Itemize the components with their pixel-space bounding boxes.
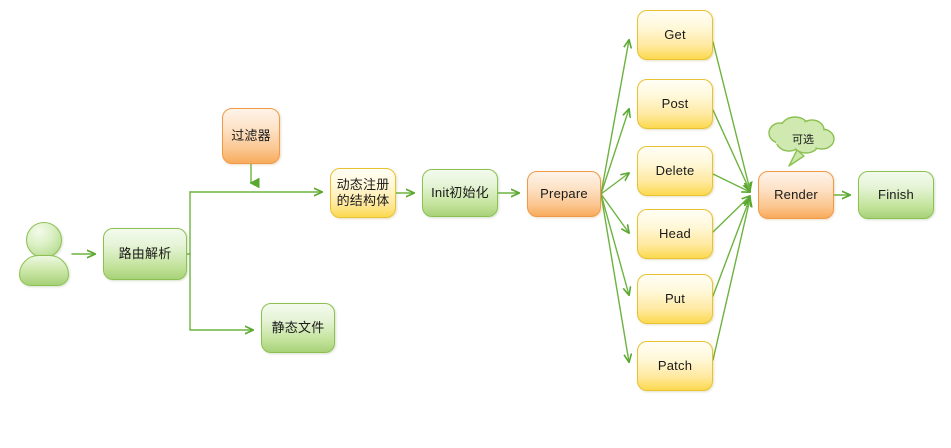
diagram-canvas: 可选 路由解析 过滤器 静态文件 动态注册 的结构体 Init初始化 Prepa… [0,0,951,448]
edge-layer [0,0,951,448]
node-static-file[interactable]: 静态文件 [261,303,335,353]
node-label: Post [658,96,693,112]
node-label: 动态注册 的结构体 [333,177,394,209]
edge-prepare-delete [601,173,629,194]
node-label: Head [655,226,695,242]
node-label: Prepare [536,186,592,202]
optional-callout-label: 可选 [770,119,836,159]
edge-prepare-post [601,109,629,194]
node-prepare[interactable]: Prepare [527,171,601,217]
node-finish[interactable]: Finish [858,171,934,219]
edge-prepare-patch [601,194,629,362]
optional-callout: 可选 [770,119,836,167]
edge-get-render [713,42,750,190]
node-route-parse[interactable]: 路由解析 [103,228,187,280]
node-label: Finish [874,187,918,203]
node-label: 路由解析 [115,246,176,262]
edge-post-render [713,110,750,191]
node-label: 过滤器 [227,128,275,144]
node-label: 静态文件 [268,320,329,336]
edge-patch-render [713,199,750,360]
node-label: Get [660,27,690,43]
edge-prepare-get [601,40,629,194]
node-dynamic-struct[interactable]: 动态注册 的结构体 [330,168,396,218]
node-label: Delete [652,163,699,179]
edge-prepare-put [601,194,629,295]
edge-prepare-head [601,194,629,233]
node-label: Init初始化 [427,185,493,201]
node-patch[interactable]: Patch [637,341,713,391]
node-put[interactable]: Put [637,274,713,324]
node-label: Patch [654,358,696,374]
edge-head-render [713,196,750,232]
node-init[interactable]: Init初始化 [422,169,498,217]
node-filter[interactable]: 过滤器 [222,108,280,164]
node-post[interactable]: Post [637,79,713,129]
node-get[interactable]: Get [637,10,713,60]
user-actor [14,222,72,284]
edge-delete-render [713,174,750,192]
node-render[interactable]: Render [758,171,834,219]
actor-body-icon [19,255,69,286]
node-head[interactable]: Head [637,209,713,259]
edge-put-render [713,198,750,296]
actor-head-icon [26,222,62,258]
node-label: Render [770,187,822,203]
node-delete[interactable]: Delete [637,146,713,196]
node-label: Put [661,291,689,307]
